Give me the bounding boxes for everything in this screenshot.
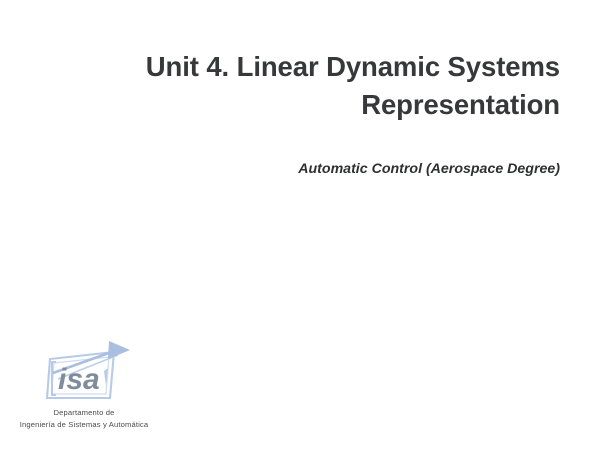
logo-caption: Departamento de Ingeniería de Sistemas y…: [4, 407, 164, 430]
department-logo: isa Departamento de Ingeniería de Sistem…: [4, 341, 164, 441]
isa-logo-icon: isa: [38, 341, 134, 405]
page-subtitle: Automatic Control (Aerospace Degree): [40, 160, 560, 178]
isa-wordmark: isa: [58, 363, 100, 396]
page-title-line-2: Representation: [40, 86, 560, 124]
page-title-line-1: Unit 4. Linear Dynamic Systems: [40, 48, 560, 86]
title-slide: Unit 4. Linear Dynamic Systems Represent…: [0, 0, 600, 450]
logo-caption-line-2: Ingeniería de Sistemas y Automática: [4, 419, 164, 431]
logo-caption-line-1: Departamento de: [4, 407, 164, 419]
isa-arrow-head-shape: [108, 341, 130, 359]
page-title: Unit 4. Linear Dynamic Systems Represent…: [40, 48, 560, 123]
page-subtitle-text: Automatic Control (Aerospace Degree): [40, 160, 560, 178]
